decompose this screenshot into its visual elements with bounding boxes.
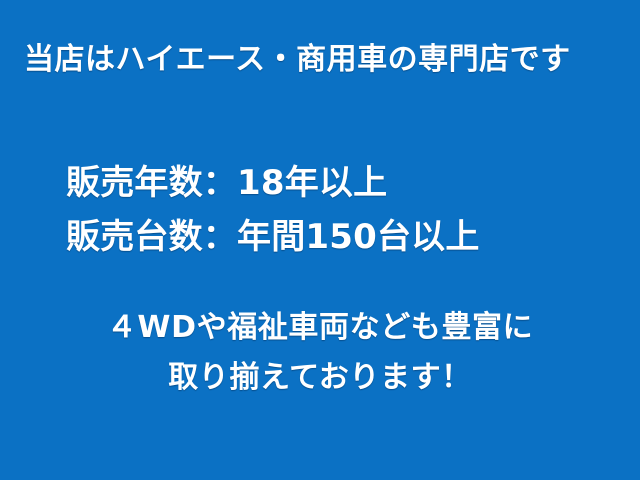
closing-block: ４WDや福祉車両なども豊富に 取り揃えております！ [0, 303, 640, 403]
closing-line-inventory: ４WDや福祉車両なども豊富に [0, 303, 640, 353]
stat-line-sales-units: 販売台数：年間150台以上 [66, 210, 586, 264]
stats-block: 販売年数：18年以上 販売台数：年間150台以上 [66, 156, 586, 264]
page-title: 当店はハイエース・商用車の専門店です [24, 41, 571, 79]
stat-line-sales-years: 販売年数：18年以上 [66, 156, 586, 210]
promo-slide: 当店はハイエース・商用車の専門店です 販売年数：18年以上 販売台数：年間150… [0, 0, 640, 480]
closing-line-availability: 取り揃えております！ [0, 353, 640, 403]
